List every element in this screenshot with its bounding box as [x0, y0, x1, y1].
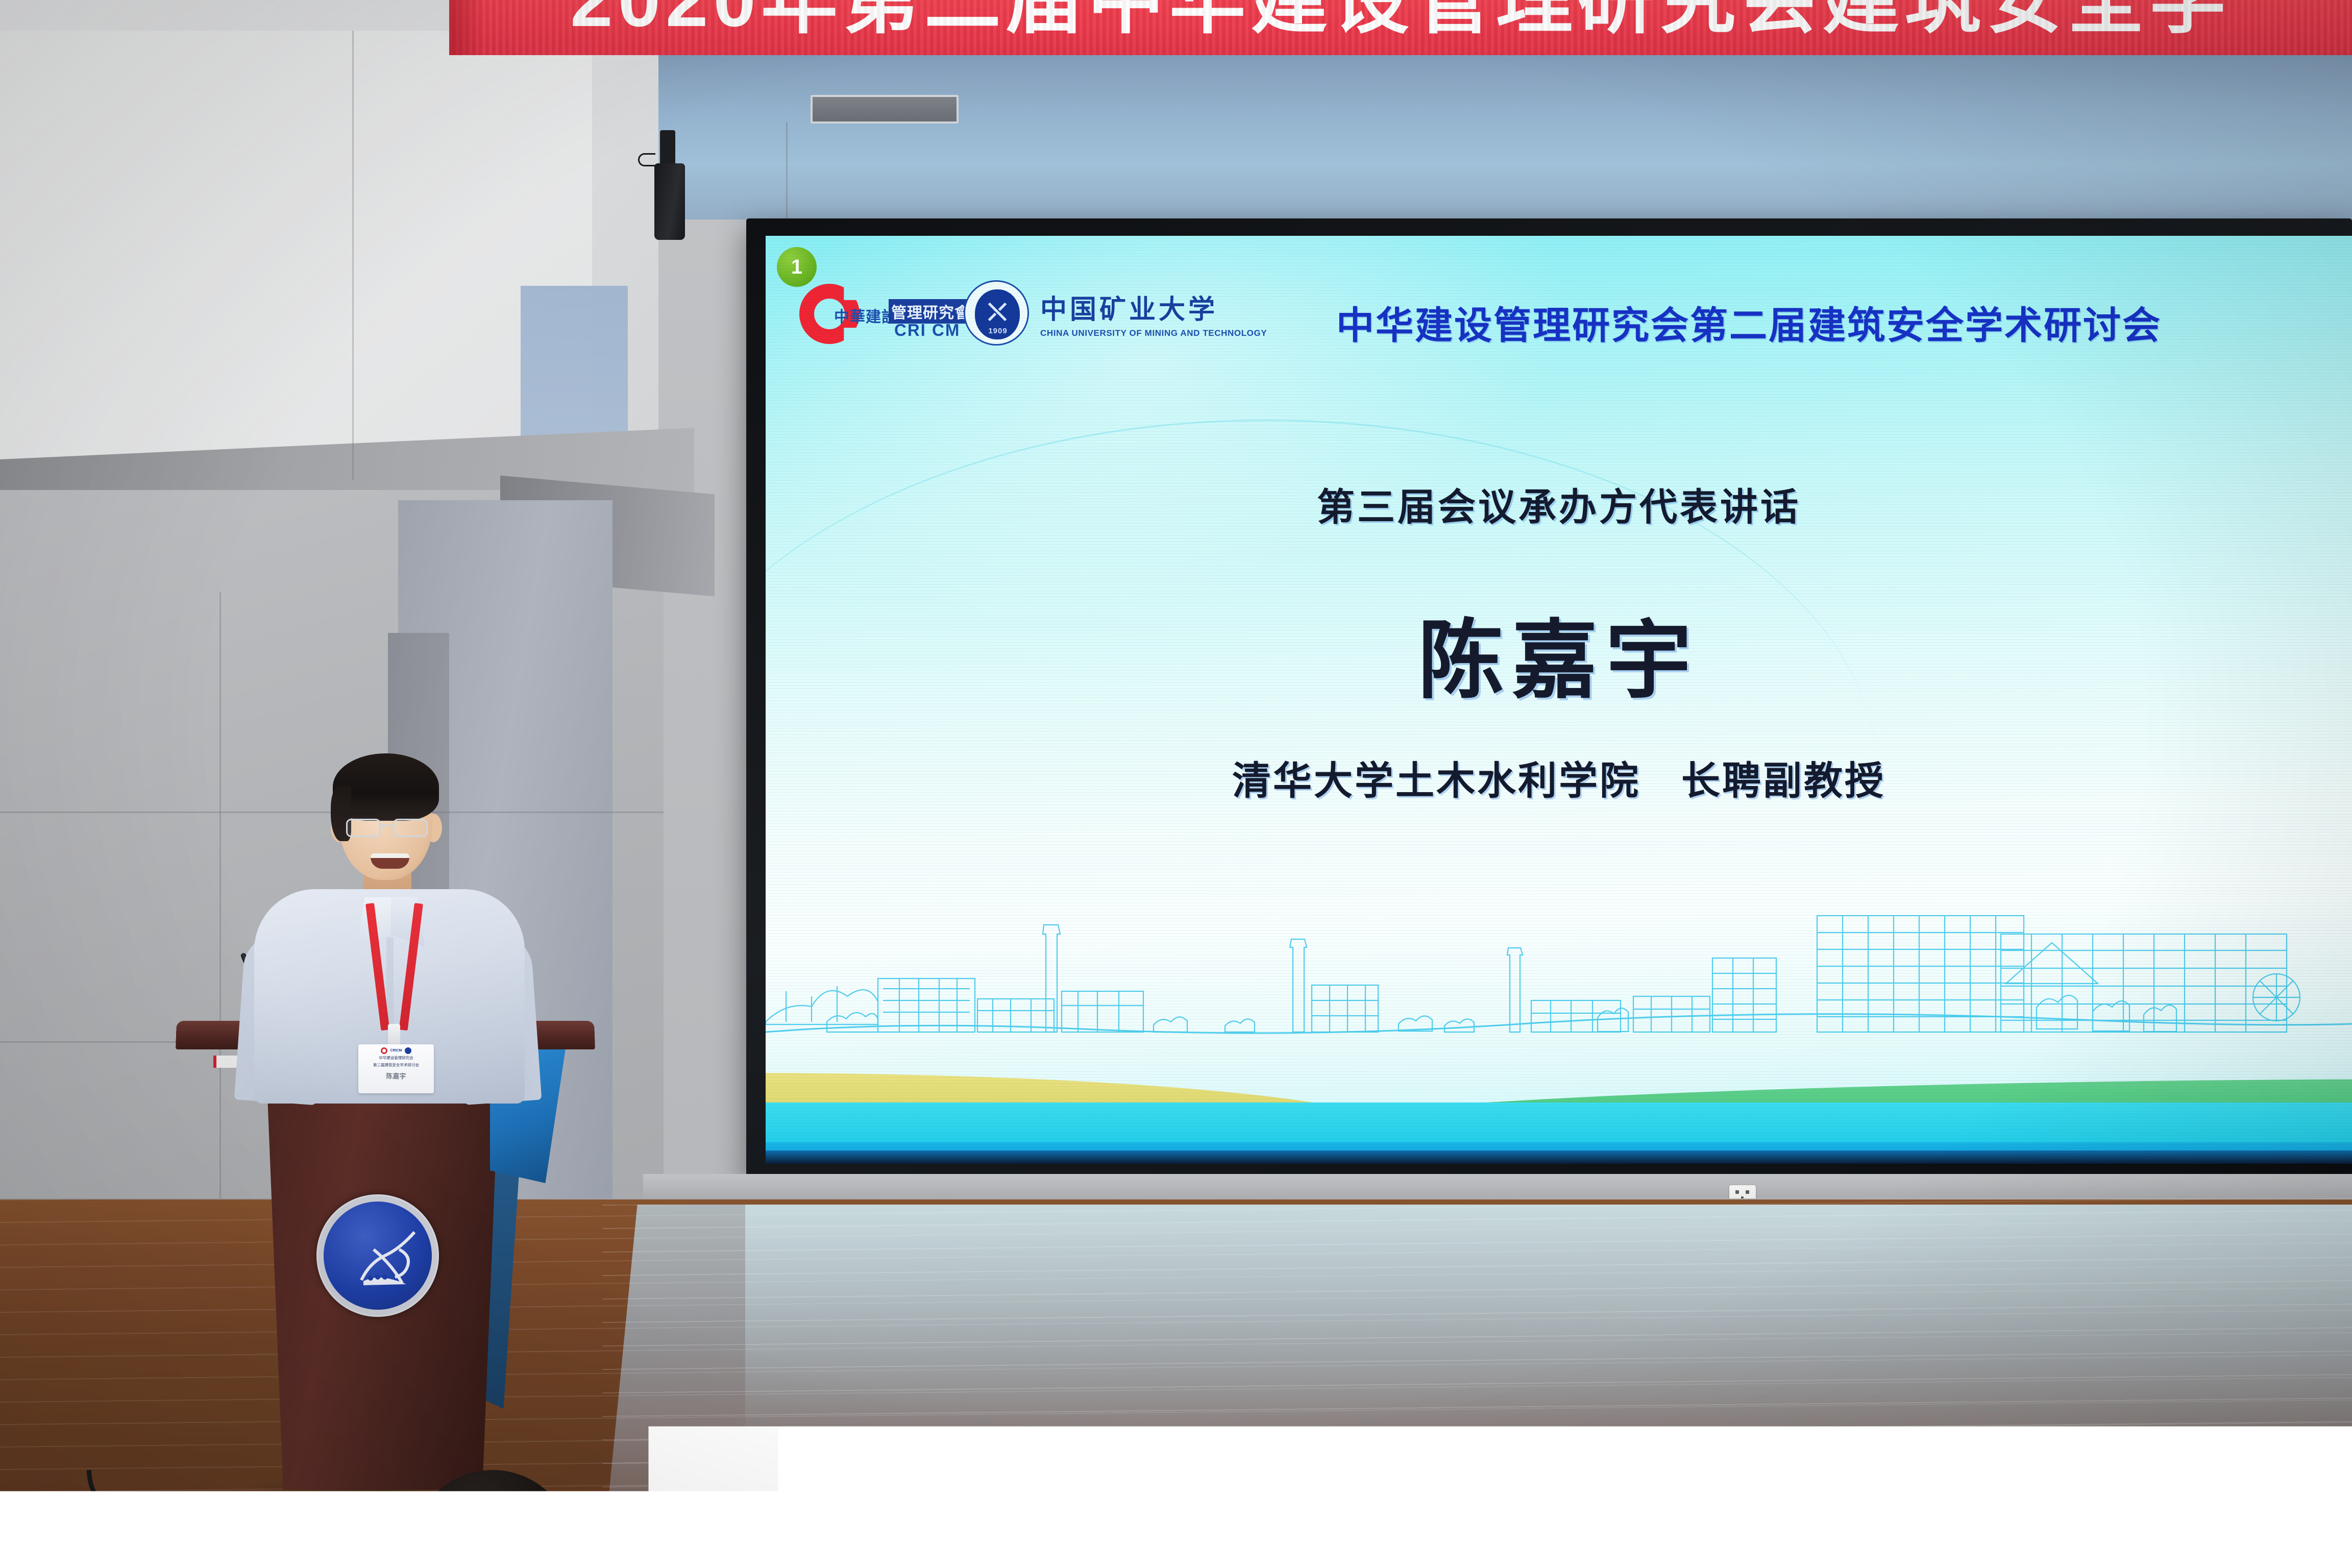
ceiling-vent-icon [811, 95, 959, 124]
bottle-cap [663, 1489, 678, 1511]
slide-wave-graphic [766, 1041, 2352, 1164]
speaker-glasses-right-lens [393, 819, 428, 837]
cup-body [844, 1527, 863, 1568]
speaker-name-badge: CRICM 中华建设管理研究会 第二届建筑安全学术研讨会 陈嘉宇 [358, 1044, 434, 1093]
podium-emblem-icon [316, 1194, 439, 1317]
cricm-en: CRI CM [894, 321, 960, 340]
badge-cumt-icon [405, 1047, 411, 1054]
badge-signature: 陈嘉宇 [361, 1071, 431, 1081]
badge-cricm-icon [381, 1047, 387, 1054]
camera-mount [660, 130, 675, 167]
slide-affiliation: 清华大学土木水利学院 长聘副教授 [766, 749, 2352, 805]
cumt-cn: 中国矿业大学 [1040, 288, 1267, 326]
cricm-logo: 中華建設 管理研究會 CRI CM [799, 280, 936, 346]
slide-logo-row: 中華建設 管理研究會 CRI CM ⛌ 1909 中国矿业大学 CHINA UN… [799, 280, 1267, 346]
slide-speaker-name: 陈嘉宇 [766, 591, 2352, 715]
panel-seam [219, 592, 221, 1199]
red-banner: 2020年第二届中华建设管理研究会建筑安全学 [449, 0, 2352, 55]
speaker-mouth [371, 853, 409, 869]
panel-seam [786, 122, 788, 219]
wall-camera-icon [654, 163, 685, 240]
conference-hall-scene: 2020年第二届中华建设管理研究会建筑安全学 1 中華建設 管理研究會 CRI … [0, 0, 2352, 1568]
badge-line-1: 中华建设管理研究会 [361, 1056, 431, 1061]
banner-fold [449, 0, 485, 55]
camera-cable [638, 153, 655, 166]
badge-line-2: 第二届建筑安全学术研讨会 [361, 1063, 431, 1068]
cumt-en: CHINA UNIVERSITY OF MINING AND TECHNOLOG… [1040, 328, 1267, 338]
cumt-text: 中国矿业大学 CHINA UNIVERSITY OF MINING AND TE… [1040, 288, 1267, 338]
cumt-logo: ⛌ 1909 中国矿业大学 CHINA UNIVERSITY OF MINING… [964, 280, 1267, 346]
speaker-glasses-bridge [381, 825, 393, 826]
cumt-seal-icon: ⛌ 1909 [964, 280, 1029, 346]
coffee-cup [842, 1511, 865, 1568]
bottle-label [986, 1551, 1008, 1568]
bottle-label [659, 1551, 681, 1568]
slide-header-title: 中华建设管理研究会第二届建筑安全学术研讨会 [1336, 295, 2162, 350]
speaker-glasses-left-lens [346, 819, 381, 837]
banner-text: 2020年第二届中华建设管理研究会建筑安全学 [449, 0, 2352, 38]
bottle-label [2174, 1531, 2196, 1568]
presentation-slide[interactable]: 1 中華建設 管理研究會 CRI CM ⛌ 1909 中国矿业大学 CHINA … [766, 236, 2352, 1164]
emblem-mark-icon [350, 1229, 419, 1296]
left-wall-upper-inner [0, 31, 592, 480]
cricm-cn-left: 中華建設 [834, 304, 897, 327]
table-name-plate [1699, 1536, 1803, 1568]
cup-lid [842, 1511, 865, 1528]
bottle-cap [989, 1489, 1004, 1511]
badge-mini-text: CRICM [390, 1049, 402, 1052]
panel-seam [352, 31, 354, 480]
table-name-plate [939, 1451, 995, 1476]
bottle-cap [2177, 1470, 2193, 1491]
cumt-seal-glyph: ⛌ [986, 300, 1009, 329]
cricm-cn-box: 管理研究會 [889, 299, 973, 324]
badge-logo-row: CRICM [361, 1047, 431, 1054]
cumt-seal-year: 1909 [965, 327, 1031, 335]
slide-subtitle: 第三届会议承办方代表讲话 [766, 477, 2352, 531]
slide-bottom-edge [766, 1150, 2352, 1164]
